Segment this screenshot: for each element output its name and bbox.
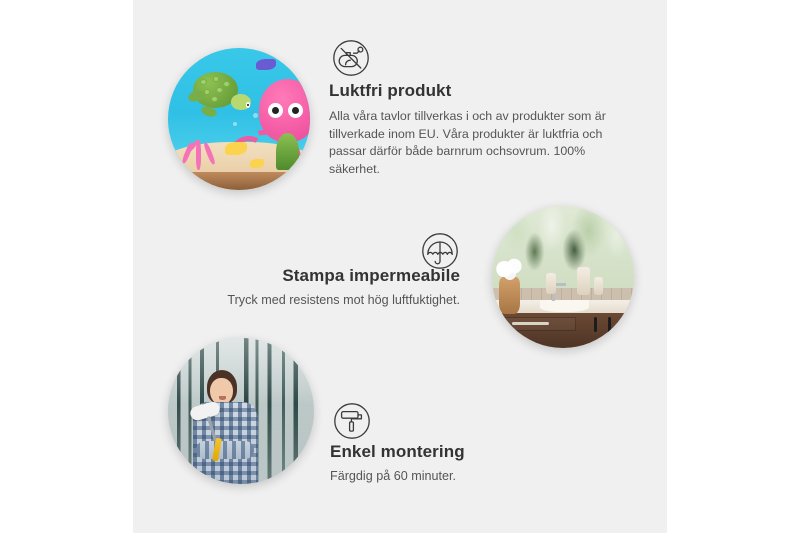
paint-roller-icon bbox=[330, 399, 374, 443]
bathroom-scene bbox=[492, 206, 634, 348]
coral bbox=[179, 128, 222, 171]
feature-heading-easy-assembly: Enkel montering bbox=[330, 441, 590, 463]
feature-body-easy-assembly: Färgdig på 60 minuter. bbox=[330, 468, 590, 486]
feature-image-waterproof bbox=[492, 206, 634, 348]
feature-body-waterproof: Tryck med resistens mot hög luftfuktighe… bbox=[200, 292, 460, 310]
feature-image-odourless bbox=[168, 48, 310, 190]
feature-image-easy-assembly bbox=[168, 338, 314, 484]
feature-text-odourless: Luktfri produkt Alla våra tavlor tillver… bbox=[329, 80, 619, 178]
turtle bbox=[188, 72, 248, 117]
painter-person bbox=[191, 370, 267, 484]
forest-scene bbox=[168, 338, 314, 484]
no-fragrance-spray-icon bbox=[329, 36, 373, 80]
product-feature-banner: Luktfri produkt Alla våra tavlor tillver… bbox=[0, 0, 800, 533]
feature-body-odourless: Alla våra tavlor tillverkas i och av pro… bbox=[329, 108, 619, 178]
underwater-scene bbox=[168, 48, 310, 190]
feature-text-easy-assembly: Enkel montering Färgdig på 60 minuter. bbox=[330, 441, 590, 486]
umbrella-icon bbox=[418, 229, 462, 273]
feature-heading-odourless: Luktfri produkt bbox=[329, 80, 619, 102]
